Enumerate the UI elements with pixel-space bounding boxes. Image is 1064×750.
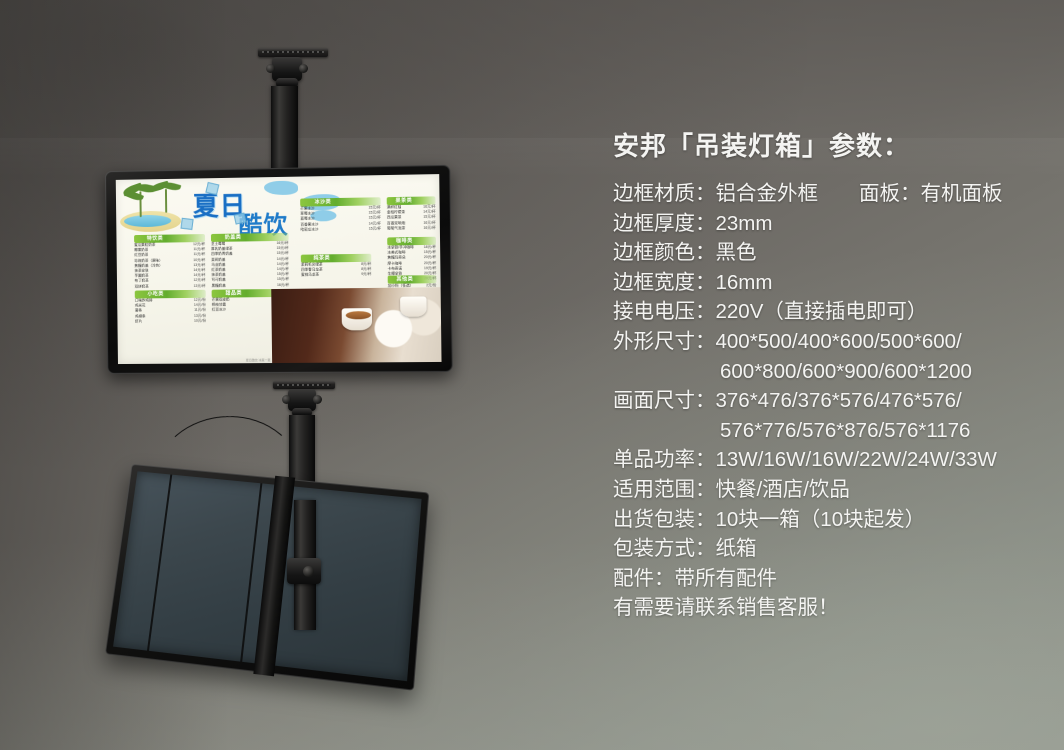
spec-line-1: 边框材质：铝合金外框 面板：有机面板 — [613, 179, 1043, 209]
spec-line-10: 单品功率：13W/16W/16W/22W/24W/33W — [613, 445, 1043, 475]
spec-line-11: 适用范围：快餐/酒店/饮品 — [613, 475, 1043, 505]
lightbox-back-panel — [105, 464, 429, 691]
lower-mount-bolt-left — [282, 395, 291, 404]
spec-line-8: 画面尺寸：376*476/376*576/476*576/ — [613, 386, 1043, 416]
specs-title: 安邦「吊装灯箱」参数： — [613, 126, 1043, 166]
spec-line-9: 576*776/576*876/576*1176 — [613, 416, 1043, 446]
spec-line-4: 边框宽度：16mm — [613, 268, 1043, 298]
spec-line-6: 外形尺寸：400*500/400*600/500*600/ — [613, 327, 1043, 357]
specs-title-spacer — [613, 166, 1043, 179]
spec-line-3: 边框颜色：黑色 — [613, 238, 1043, 268]
lower-mount-plate — [273, 381, 335, 389]
specs-line-list: 边框材质：铝合金外框 面板：有机面板边框厚度：23mm边框颜色：黑色边框宽度：1… — [613, 179, 1043, 623]
spec-line-14: 配件：带所有配件 — [613, 564, 1043, 594]
spec-line-12: 出货包装：10块一箱（10块起发） — [613, 505, 1043, 535]
lower-mount-bolt-right — [313, 395, 322, 404]
spec-line-5: 接电电压：220V（直接插电即可） — [613, 297, 1043, 327]
spec-line-15: 有需要请联系销售客服！ — [613, 593, 1043, 623]
spec-line-2: 边框厚度：23mm — [613, 209, 1043, 239]
panel-pivot-bolt — [303, 566, 314, 577]
specs-panel: 安邦「吊装灯箱」参数： 边框材质：铝合金外框 面板：有机面板边框厚度：23mm边… — [613, 126, 1043, 623]
product-photo-scene: 夏日 酷饮 特饮类蜜瓜果粒奶茶12元/杯椰果奶茶11元/杯红豆奶茶11元/杯珍珠… — [0, 0, 1064, 750]
spec-line-7: 600*800/600*900/600*1200 — [613, 357, 1043, 387]
spec-line-13: 包装方式：纸箱 — [613, 534, 1043, 564]
